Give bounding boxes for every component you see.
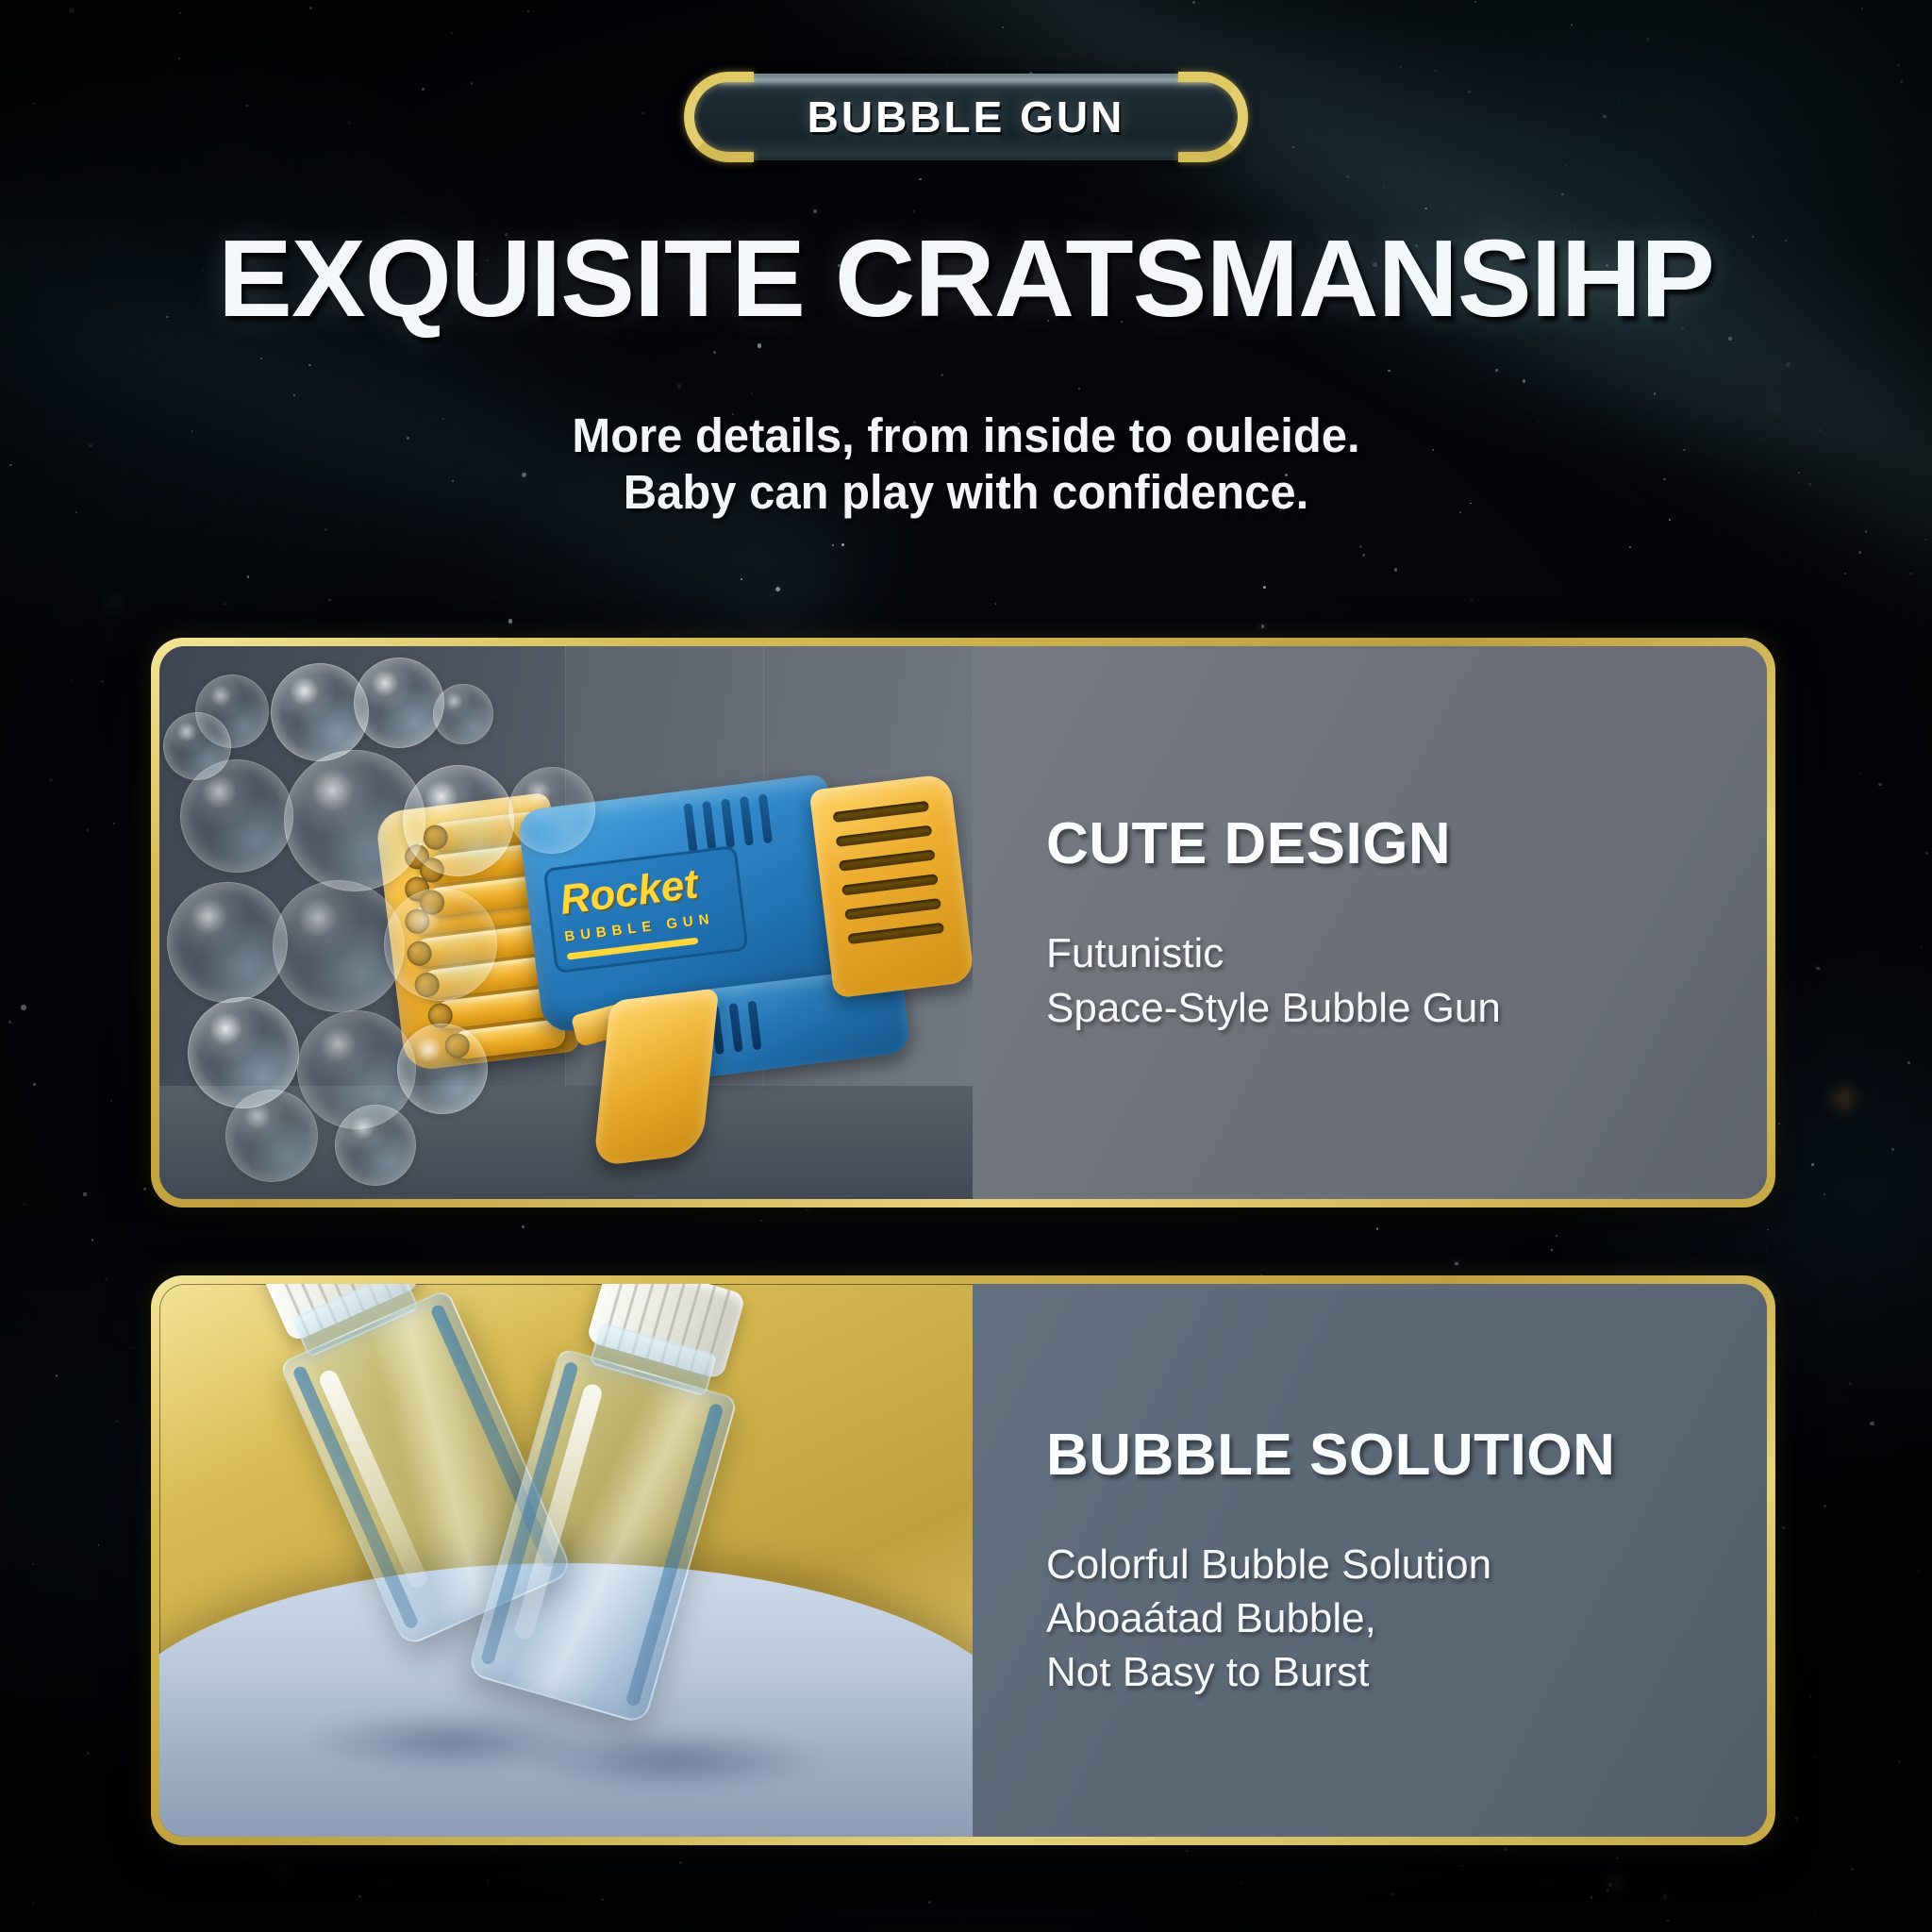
- gun-rear-slot: [833, 801, 930, 823]
- bubble-solution-body-line-3: Not Basy to Burst: [1046, 1645, 1729, 1699]
- soap-bubble: [508, 767, 595, 854]
- page-title: EXQUISITE CRATSMANSIHP: [0, 215, 1932, 341]
- soap-bubble: [403, 765, 514, 876]
- gun-vent: [758, 794, 773, 844]
- photo-scene-background: [159, 1284, 973, 1837]
- photo-scene-background: Rocket BUBBLE GUN: [159, 646, 973, 1199]
- soap-bubble: [397, 1024, 488, 1114]
- bubble-solution-photo: [159, 1284, 973, 1837]
- subtitle-line-1: More details, from inside to ouleide.: [39, 408, 1893, 464]
- gun-brand-logo: Rocket BUBBLE GUN: [543, 845, 749, 974]
- bubble-solution-title: BUBBLE SOLUTION: [1046, 1422, 1729, 1489]
- soap-bubble: [384, 888, 497, 1001]
- title-banner: BUBBLE GUN: [688, 74, 1244, 160]
- gun-slot: [728, 1003, 742, 1053]
- banner-gold-cap-right: [1178, 72, 1248, 162]
- bubble-solution-body-line-2: Aboaátad Bubble,: [1046, 1591, 1729, 1645]
- soap-bubble: [225, 1090, 318, 1182]
- card-inner: Rocket BUBBLE GUN: [159, 646, 1767, 1199]
- cute-design-body-line-2: Space-Style Bubble Gun: [1046, 981, 1729, 1035]
- gun-slot: [747, 1001, 761, 1051]
- gun-rear-slot: [836, 825, 933, 847]
- bubble-solution-body-line-1: Colorful Bubble Solution: [1046, 1538, 1729, 1591]
- gun-vent: [702, 801, 716, 851]
- cute-design-text-panel: CUTE DESIGN Futunistic Space-Style Bubbl…: [973, 646, 1767, 1199]
- page-subtitle: More details, from inside to ouleide. Ba…: [0, 408, 1932, 521]
- cute-design-body: Futunistic Space-Style Bubble Gun: [1046, 926, 1729, 1034]
- bubble-solution-text-panel: BUBBLE SOLUTION Colorful Bubble Solution…: [973, 1284, 1767, 1837]
- subtitle-line-2: Baby can play with confidence.: [39, 464, 1893, 521]
- gun-vent: [740, 796, 754, 846]
- gun-rear-slot: [839, 849, 936, 871]
- soap-bubble: [433, 684, 493, 744]
- gun-rear-vent-block: [809, 774, 973, 999]
- gun-vent: [721, 798, 735, 848]
- cute-design-title: CUTE DESIGN: [1046, 810, 1729, 877]
- gun-rear-slot: [841, 874, 939, 895]
- bubble-gun-photo: Rocket BUBBLE GUN: [159, 646, 973, 1199]
- card-inner: BUBBLE SOLUTION Colorful Bubble Solution…: [159, 1284, 1767, 1837]
- soap-bubble: [354, 658, 444, 748]
- gun-grip-handle: [593, 988, 720, 1167]
- banner-title-text: BUBBLE GUN: [808, 92, 1125, 142]
- soap-bubble: [167, 882, 288, 1003]
- cute-design-body-line-1: Futunistic: [1046, 926, 1729, 980]
- bubble-solution-body: Colorful Bubble Solution Aboaátad Bubble…: [1046, 1538, 1729, 1700]
- feature-card-bubble-solution: BUBBLE SOLUTION Colorful Bubble Solution…: [151, 1275, 1775, 1845]
- gun-rear-slot: [844, 898, 941, 920]
- feature-card-cute-design: Rocket BUBBLE GUN: [151, 638, 1775, 1207]
- banner-gold-cap-left: [684, 72, 754, 162]
- gun-vent: [683, 803, 697, 853]
- bottle-shadow: [518, 1727, 829, 1793]
- soap-bubble: [163, 712, 231, 780]
- gun-rear-slot: [847, 923, 944, 944]
- soap-bubble: [335, 1105, 416, 1186]
